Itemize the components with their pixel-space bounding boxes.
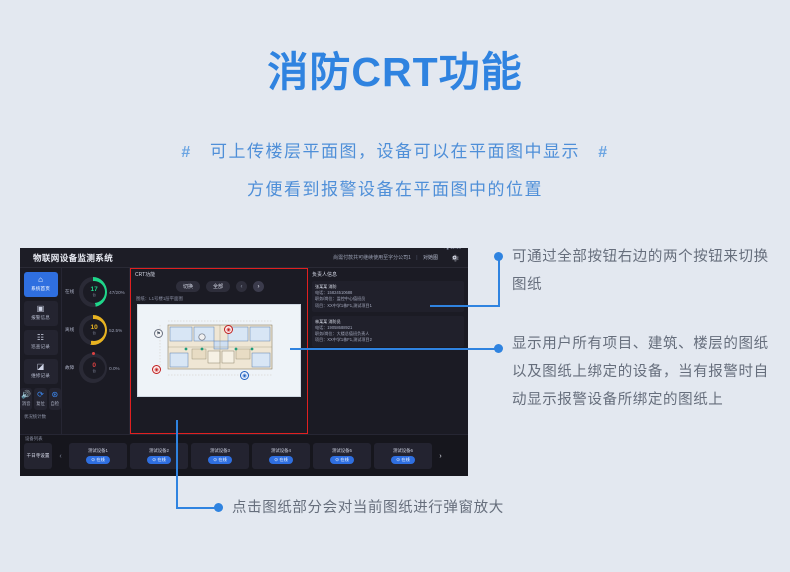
device-status-badge: ⊙在线 bbox=[86, 456, 110, 464]
chevron-right-icon[interactable]: › bbox=[435, 443, 446, 469]
device-status: 在线 bbox=[401, 457, 409, 463]
callout-1-text: 可通过全部按钮右边的两个按钮来切换图纸 bbox=[512, 243, 780, 299]
panel-heading: 负责人信息 bbox=[312, 271, 464, 278]
sidebar-item-maintenance[interactable]: ◪ 维修记录 bbox=[24, 359, 58, 384]
device-status: 在线 bbox=[279, 457, 287, 463]
status-icon: ⊙ bbox=[396, 457, 400, 463]
sidebar-item-home[interactable]: ⌂ 系统首页 bbox=[24, 272, 58, 297]
sidebar-item-label: 报警信息 bbox=[24, 314, 58, 321]
gauge-fault: 故障 0 台 0.0% bbox=[65, 349, 126, 387]
subtitle-text-1: 可上传楼层平面图，设备可以在平面图中显示 bbox=[210, 142, 580, 161]
device-status-badge: ⊙在线 bbox=[147, 456, 171, 464]
selftest-icon: ⊛ bbox=[49, 390, 61, 400]
device-status-badge: ⊙在线 bbox=[330, 456, 354, 464]
status-icon: ⊙ bbox=[152, 457, 156, 463]
callout-1-bullet bbox=[494, 252, 503, 261]
callout-2-bullet bbox=[494, 344, 503, 353]
sidebar-footnote: 状况统计数 bbox=[20, 414, 61, 420]
device-status: 在线 bbox=[96, 457, 104, 463]
device-status: 在线 bbox=[340, 457, 348, 463]
callout-2-leader bbox=[290, 348, 498, 350]
gauge-value: 17 bbox=[91, 286, 98, 293]
device-name: 测试设备1 bbox=[88, 448, 108, 454]
gauge-label: 故障 bbox=[65, 365, 77, 371]
device-marker-alarm[interactable]: ◉ bbox=[224, 325, 233, 334]
poster-canvas: 消防CRT功能 # 可上传楼层平面图，设备可以在平面图中显示 # 方便看到报警设… bbox=[0, 0, 790, 572]
device-card[interactable]: 测试设备2 ⊙在线 bbox=[130, 443, 188, 469]
device-status-badge: ⊙在线 bbox=[269, 456, 293, 464]
gauge-offline: 离线 10 台 52.5% bbox=[65, 311, 126, 349]
gauge-label: 离线 bbox=[65, 327, 77, 333]
person-project: 项目：XX中学1栋F1,测试项目2 bbox=[315, 337, 461, 343]
selftest-label: 自检 bbox=[49, 400, 61, 407]
strip-settings-button[interactable]: 千日寺设置 bbox=[24, 443, 52, 469]
callout-3-leader-horizontal bbox=[176, 507, 218, 509]
floor-plan-drawing bbox=[156, 319, 284, 381]
subtitle-line-2: 方便看到报警设备在平面图中的位置 bbox=[0, 175, 790, 200]
status-gauges: 在线 17 台 47/20% 离线 10 台 bbox=[62, 268, 130, 434]
switch-drawing-button[interactable]: 切换 bbox=[176, 281, 200, 292]
home-icon: ⌂ bbox=[24, 274, 58, 285]
sidebar-item-label: 系统首页 bbox=[24, 285, 58, 292]
sidebar-item-alarms[interactable]: ▣ 报警信息 bbox=[24, 301, 58, 326]
device-status-badge: ⊙在线 bbox=[208, 456, 232, 464]
reset-icon: ⟳ bbox=[34, 390, 46, 400]
callout-1-leader-vertical bbox=[498, 256, 500, 306]
status-icon: ⊙ bbox=[91, 457, 95, 463]
chevron-right-icon[interactable]: › bbox=[253, 281, 264, 292]
device-name: 测试设备4 bbox=[271, 448, 291, 454]
clipboard-icon: ☷ bbox=[24, 332, 58, 343]
device-status: 在线 bbox=[157, 457, 165, 463]
device-card[interactable]: 测试设备1 ⊙在线 bbox=[69, 443, 127, 469]
mute-button[interactable]: 🔊 消音 bbox=[20, 388, 32, 410]
gauge-percent: 47/20% bbox=[109, 290, 126, 295]
crt-drawing-name: 图纸：L1号楼1层平面图 bbox=[136, 296, 183, 302]
device-marker[interactable]: ⚑ bbox=[154, 329, 163, 338]
device-strip-caption: 设备列表 bbox=[25, 436, 43, 442]
callout-3-leader-vertical bbox=[176, 420, 178, 508]
app-title: 物联网设备监测系统 bbox=[33, 252, 113, 264]
wrench-icon: ◪ bbox=[24, 361, 58, 372]
device-card[interactable]: 测试设备5 ⊙在线 bbox=[313, 443, 371, 469]
app-body: ⌂ 系统首页 ▣ 报警信息 ☷ 巡查记录 ◪ 维修记录 🔊 bbox=[20, 268, 468, 434]
status-icon: ⊙ bbox=[213, 457, 217, 463]
subtitle-line-1: # 可上传楼层平面图，设备可以在平面图中显示 # bbox=[0, 137, 790, 162]
callout-2-text: 显示用户所有项目、建筑、楼层的图纸以及图纸上绑定的设备，当有报警时自动显示报警设… bbox=[512, 330, 780, 414]
device-card[interactable]: 测试设备4 ⊙在线 bbox=[252, 443, 310, 469]
gauge-ring: 17 台 bbox=[79, 277, 107, 307]
gauge-unit: 台 bbox=[92, 369, 96, 374]
device-strip: 设备列表 千日寺设置 ‹ 测试设备1 ⊙在线 测试设备2 ⊙在线 测试设备3 ⊙… bbox=[20, 434, 468, 476]
clock: 11:16 bbox=[450, 248, 461, 250]
device-name: 测试设备3 bbox=[210, 448, 230, 454]
crt-toolbar: 切换 全部 ‹ › bbox=[131, 281, 309, 292]
app-screenshot: 物联网设备监测系统 ▪ ▮ 11:16 尚需付款共可继续使用至字分公司1 | 对… bbox=[20, 248, 468, 476]
app-sidebar: ⌂ 系统首页 ▣ 报警信息 ☷ 巡查记录 ◪ 维修记录 🔊 bbox=[20, 268, 62, 434]
all-drawings-button[interactable]: 全部 bbox=[206, 281, 230, 292]
speaker-mute-icon: 🔊 bbox=[20, 390, 32, 400]
gauge-percent: 0.0% bbox=[109, 366, 126, 371]
gauge-center: 10 台 bbox=[83, 319, 105, 341]
device-marker-normal[interactable]: ◉ bbox=[240, 371, 249, 380]
hash-decoration-left: # bbox=[181, 144, 191, 161]
hash-decoration-right: # bbox=[598, 144, 608, 161]
device-status: 在线 bbox=[218, 457, 226, 463]
gauge-value: 10 bbox=[91, 324, 98, 331]
sidebar-action-group: 🔊 消音 ⟳ 复位 ⊛ 自检 bbox=[20, 388, 61, 410]
sidebar-item-label: 维修记录 bbox=[24, 372, 58, 379]
crt-panel-title: CRT功能 bbox=[135, 271, 155, 278]
status-icon: ⊙ bbox=[335, 457, 339, 463]
divider: | bbox=[416, 255, 417, 261]
floor-plan-canvas[interactable]: ⚑ ◉ ◉ ◉ bbox=[137, 304, 301, 397]
gauge-online: 在线 17 台 47/20% bbox=[65, 273, 126, 311]
person-card[interactable]: 林某某 消防员 电话：19058688921 职务/岗位：大楼总值班负责人 项目… bbox=[312, 316, 464, 347]
reset-label: 复位 bbox=[34, 400, 46, 407]
chevron-left-icon[interactable]: ‹ bbox=[55, 443, 66, 469]
bell-icon: ▣ bbox=[24, 303, 58, 314]
gauge-unit: 台 bbox=[92, 293, 96, 298]
device-status-badge: ⊙在线 bbox=[391, 456, 415, 464]
callout-3-bullet bbox=[214, 503, 223, 512]
device-card[interactable]: 测试设备6 ⊙在线 bbox=[374, 443, 432, 469]
callout-3-text: 点击图纸部分会对当前图纸进行弹窗放大 bbox=[232, 498, 632, 518]
gauge-percent: 52.5% bbox=[109, 328, 126, 333]
reset-button[interactable]: ⟳ 复位 bbox=[34, 388, 46, 410]
sidebar-item-label: 巡查记录 bbox=[24, 343, 58, 350]
gauge-center: 17 台 bbox=[83, 281, 105, 303]
device-marker-alarm[interactable]: ◉ bbox=[152, 365, 161, 374]
responsible-person-panel: 负责人信息 张某某 消防 电话：15824510688 职务/岗位：监控中心值班… bbox=[308, 268, 468, 434]
license-text: 尚需付款共可继续使用至字分公司1 bbox=[333, 255, 411, 261]
os-statusbar: ▪ ▮ 11:16 bbox=[443, 248, 461, 251]
license-notice: 尚需付款共可继续使用至字分公司1 | 对她图 bbox=[333, 254, 438, 261]
gauge-center: 0 台 bbox=[83, 357, 105, 379]
device-name: 测试设备6 bbox=[393, 448, 413, 454]
mute-label: 消音 bbox=[20, 400, 32, 407]
sidebar-item-inspection[interactable]: ☷ 巡查记录 bbox=[24, 330, 58, 355]
device-card[interactable]: 测试设备3 ⊙在线 bbox=[191, 443, 249, 469]
gauge-ring: 10 台 bbox=[79, 315, 107, 345]
gear-icon[interactable] bbox=[449, 252, 460, 263]
chevron-left-icon[interactable]: ‹ bbox=[236, 281, 247, 292]
device-name: 测试设备5 bbox=[332, 448, 352, 454]
user-name: 对她图 bbox=[423, 255, 438, 261]
page-title: 消防CRT功能 bbox=[0, 50, 790, 95]
gauge-value: 0 bbox=[92, 362, 96, 369]
selftest-button[interactable]: ⊛ 自检 bbox=[49, 388, 61, 410]
person-card[interactable]: 张某某 消防 电话：15824510688 职务/岗位：监控中心值班员 项目：X… bbox=[312, 281, 464, 312]
crt-panel: CRT功能 切换 全部 ‹ › 图纸：L1号楼1层平面图 bbox=[130, 268, 308, 434]
status-icon: ⊙ bbox=[274, 457, 278, 463]
gauge-label: 在线 bbox=[65, 289, 77, 295]
gauge-unit: 台 bbox=[92, 331, 96, 336]
device-strip-row: 千日寺设置 ‹ 测试设备1 ⊙在线 测试设备2 ⊙在线 测试设备3 ⊙在线 测试… bbox=[24, 443, 446, 469]
app-titlebar: 物联网设备监测系统 ▪ ▮ 11:16 尚需付款共可继续使用至字分公司1 | 对… bbox=[20, 248, 468, 268]
device-name: 测试设备2 bbox=[149, 448, 169, 454]
callout-1-leader-horizontal bbox=[430, 305, 500, 307]
gauge-ring: 0 台 bbox=[79, 353, 107, 383]
fault-indicator-dot bbox=[92, 352, 95, 355]
